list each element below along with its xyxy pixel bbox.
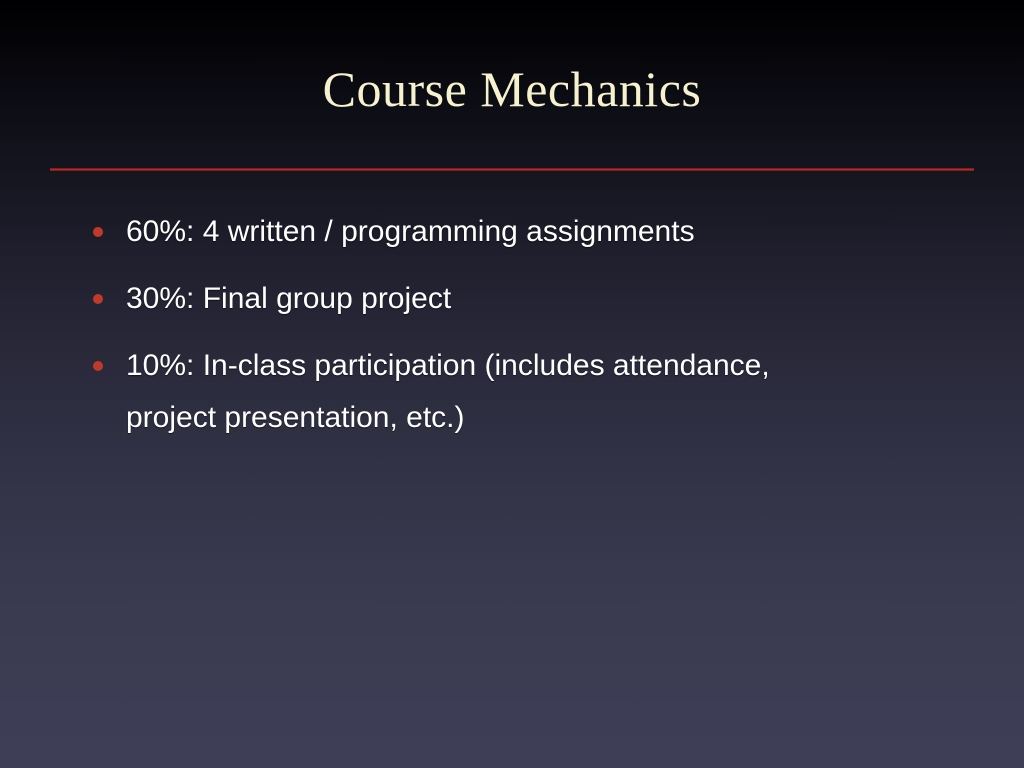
slide-title: Course Mechanics (0, 60, 1024, 118)
slide-content: Course Mechanics 60%: 4 written / progra… (0, 0, 1024, 768)
title-divider-rule (50, 168, 974, 171)
list-item: 60%: 4 written / programming assignments (86, 206, 966, 258)
list-item: 10%: In-class participation (includes at… (86, 340, 966, 444)
bullet-item-label: 10%: In-class participation (includes at… (126, 340, 926, 444)
bullet-item-label: 60%: 4 written / programming assignments (126, 206, 926, 258)
bullet-dot-icon (93, 227, 103, 237)
bullet-item-label: 30%: Final group project (126, 273, 926, 325)
bullet-dot-icon (93, 361, 103, 371)
presentation-slide: Course Mechanics 60%: 4 written / progra… (0, 0, 1024, 768)
bullet-list: 60%: 4 written / programming assignments… (86, 206, 966, 459)
bullet-dot-icon (93, 294, 103, 304)
list-item: 30%: Final group project (86, 273, 966, 325)
